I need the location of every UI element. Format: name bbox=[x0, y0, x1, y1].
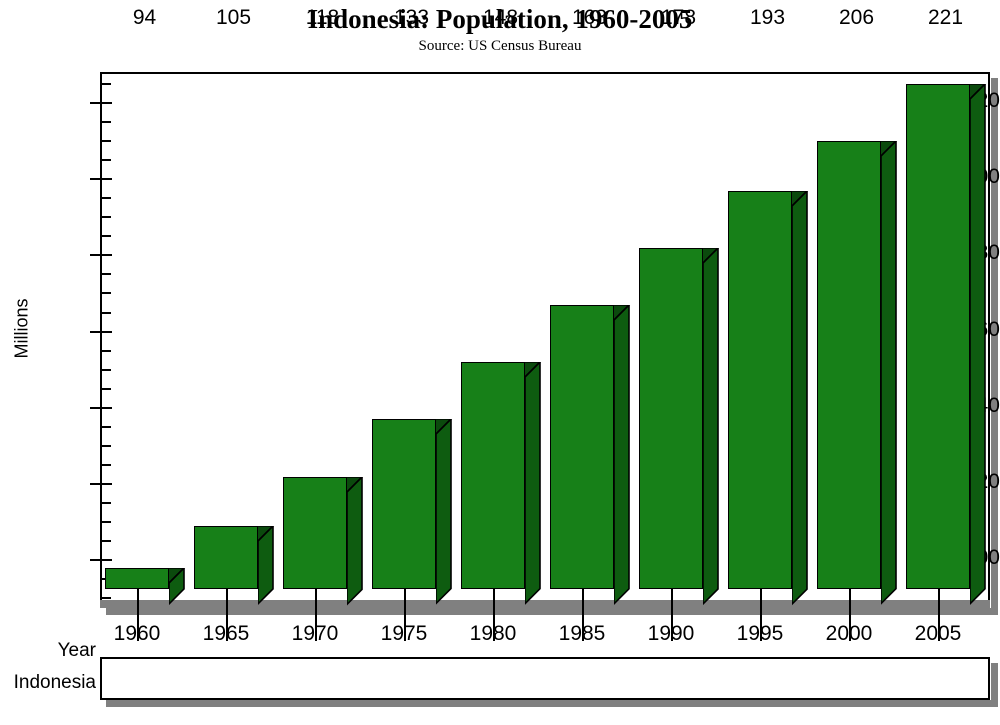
y-tick-minor bbox=[101, 464, 111, 466]
y-tick-minor bbox=[101, 121, 111, 123]
bar-front-face bbox=[461, 362, 525, 589]
bar-side-face bbox=[258, 526, 275, 606]
bar-3d bbox=[372, 419, 451, 604]
table-cell-value: 94 bbox=[100, 6, 189, 30]
y-tick-major bbox=[90, 178, 112, 180]
bar-front-face bbox=[906, 84, 970, 589]
table-cell-value: 178 bbox=[634, 6, 723, 30]
y-tick-minor bbox=[101, 369, 111, 371]
table-cell-value: 105 bbox=[189, 6, 278, 30]
bar-3d bbox=[194, 526, 273, 604]
table-cell-value: 163 bbox=[545, 6, 634, 30]
x-axis-tick-label: 2005 bbox=[898, 622, 978, 646]
bar-side-face bbox=[792, 191, 809, 606]
bar-front-face bbox=[372, 419, 436, 589]
bar-front-face bbox=[283, 477, 347, 589]
table-cell-value: 133 bbox=[367, 6, 456, 30]
x-axis-tick-label: 2000 bbox=[809, 622, 889, 646]
bar-3d bbox=[906, 84, 985, 604]
table-row-label-year: Year bbox=[0, 640, 96, 662]
bar-side-face bbox=[347, 477, 364, 606]
y-tick-major bbox=[90, 102, 112, 104]
bar-side-face bbox=[436, 419, 453, 606]
bar-3d bbox=[461, 362, 540, 604]
y-tick-minor bbox=[101, 521, 111, 523]
bar-front-face bbox=[550, 305, 614, 589]
bar-front-face bbox=[639, 248, 703, 589]
x-axis-tick-label: 1995 bbox=[720, 622, 800, 646]
bar-front-face bbox=[194, 526, 258, 589]
y-tick-minor bbox=[101, 312, 111, 314]
bar-front-face bbox=[105, 568, 169, 589]
y-axis-title: Millions bbox=[12, 279, 33, 379]
y-tick-minor bbox=[101, 388, 111, 390]
table-cell-value: 221 bbox=[901, 6, 990, 30]
y-tick-minor bbox=[101, 83, 111, 85]
x-axis-tick-label: 1980 bbox=[453, 622, 533, 646]
y-tick-minor bbox=[101, 292, 111, 294]
bar-side-face bbox=[970, 84, 987, 606]
y-tick-major bbox=[90, 559, 112, 561]
x-axis-tick-label: 1965 bbox=[186, 622, 266, 646]
bar-side-face bbox=[525, 362, 542, 606]
y-tick-major bbox=[90, 483, 112, 485]
x-axis-tick-label: 1970 bbox=[275, 622, 355, 646]
table-cell-value: 193 bbox=[723, 6, 812, 30]
table-cell-value: 118 bbox=[278, 6, 367, 30]
chart-subtitle: Source: US Census Bureau bbox=[0, 38, 1000, 55]
bar-3d bbox=[105, 568, 184, 604]
plot-shadow-bottom bbox=[106, 608, 998, 615]
y-tick-major bbox=[90, 254, 112, 256]
y-tick-minor bbox=[101, 216, 111, 218]
bar-front-face bbox=[728, 191, 792, 589]
bar-3d bbox=[283, 477, 362, 604]
y-tick-minor bbox=[101, 350, 111, 352]
bar-side-face bbox=[169, 568, 186, 606]
x-axis-tick-label: 1985 bbox=[542, 622, 622, 646]
x-axis-tick-label: 1960 bbox=[97, 622, 177, 646]
bar-front-face bbox=[817, 141, 881, 589]
y-tick-major bbox=[90, 331, 112, 333]
plot-shadow-right bbox=[991, 78, 998, 615]
y-tick-minor bbox=[101, 426, 111, 428]
table-cell-value: 148 bbox=[456, 6, 545, 30]
bar-side-face bbox=[881, 141, 898, 606]
y-tick-minor bbox=[101, 502, 111, 504]
bar-side-face bbox=[614, 305, 631, 606]
y-tick-minor bbox=[101, 140, 111, 142]
bar-3d bbox=[728, 191, 807, 604]
bar-side-face bbox=[703, 248, 720, 606]
bar-3d bbox=[550, 305, 629, 604]
x-axis-tick-label: 1990 bbox=[631, 622, 711, 646]
table-row-label-indonesia: Indonesia bbox=[0, 672, 96, 694]
y-tick-minor bbox=[101, 540, 111, 542]
bar-3d bbox=[639, 248, 718, 604]
y-tick-minor bbox=[101, 159, 111, 161]
table-shadow-right bbox=[991, 663, 998, 707]
plot-floor bbox=[100, 600, 990, 608]
table-shadow-bottom bbox=[106, 700, 998, 707]
x-axis-tick-label: 1975 bbox=[364, 622, 444, 646]
y-tick-minor bbox=[101, 445, 111, 447]
y-tick-minor bbox=[101, 235, 111, 237]
y-tick-minor bbox=[101, 197, 111, 199]
data-table bbox=[100, 657, 990, 700]
y-tick-major bbox=[90, 407, 112, 409]
table-cell-value: 206 bbox=[812, 6, 901, 30]
bar-3d bbox=[817, 141, 896, 604]
y-tick-minor bbox=[101, 273, 111, 275]
